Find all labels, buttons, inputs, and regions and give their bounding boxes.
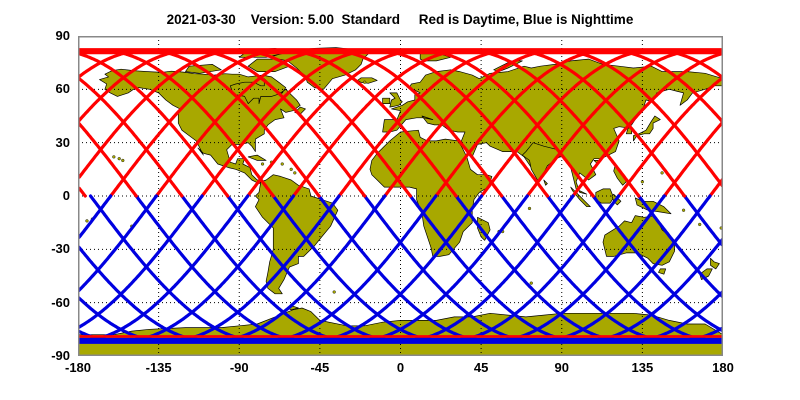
x-tick-label: -45 xyxy=(290,360,350,375)
x-tick-label: -135 xyxy=(129,360,189,375)
y-tick-label: 0 xyxy=(34,188,70,203)
x-tick-label: 0 xyxy=(371,360,431,375)
figure-title: 2021-03-30 Version: 5.00 Standard Red is… xyxy=(0,12,800,27)
ground-track-map-figure: 2021-03-30 Version: 5.00 Standard Red is… xyxy=(0,0,800,400)
y-tick-label: -30 xyxy=(34,241,70,256)
y-tick-label: -60 xyxy=(34,295,70,310)
x-tick-label: 135 xyxy=(612,360,672,375)
ground-track-plot xyxy=(78,36,723,356)
plot-area xyxy=(78,36,723,356)
x-tick-label: -90 xyxy=(209,360,269,375)
x-tick-label: -180 xyxy=(48,360,108,375)
x-tick-label: 90 xyxy=(532,360,592,375)
x-tick-label: 180 xyxy=(693,360,753,375)
y-tick-label: 60 xyxy=(34,81,70,96)
x-tick-label: 45 xyxy=(451,360,511,375)
y-tick-label: 90 xyxy=(34,28,70,43)
y-tick-label: 30 xyxy=(34,135,70,150)
